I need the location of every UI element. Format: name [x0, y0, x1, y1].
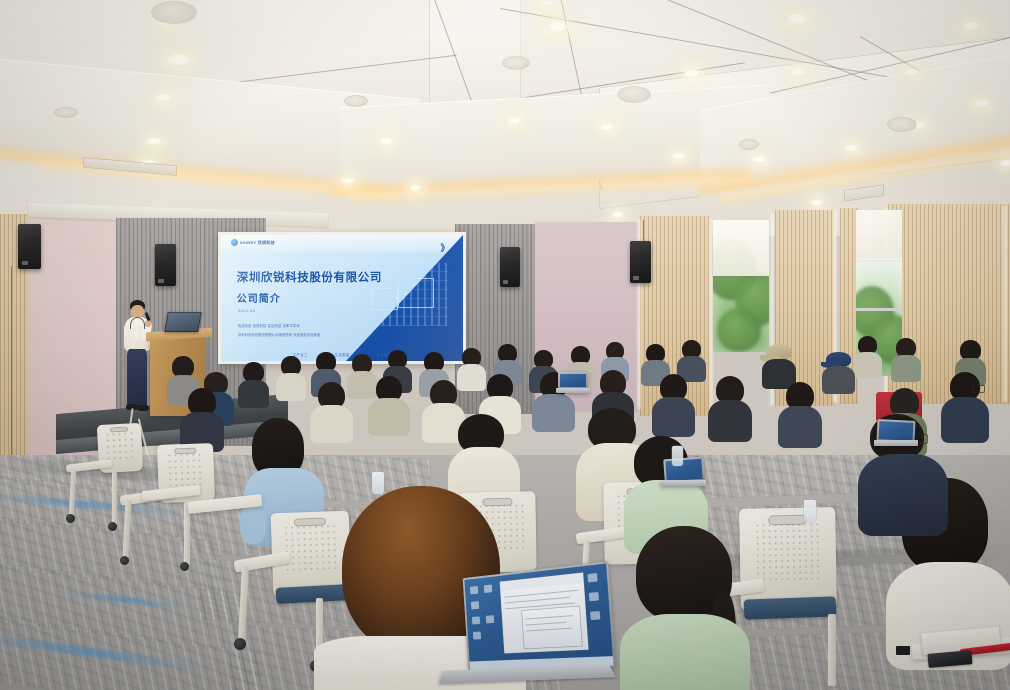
chair-caster — [120, 556, 129, 565]
chair-handle — [482, 497, 513, 506]
chair-handle — [174, 448, 197, 455]
dialog-row — [525, 615, 572, 620]
attendee-torso — [347, 371, 377, 399]
speaker-wire — [643, 220, 644, 244]
attendee-torso — [708, 400, 752, 442]
window-mullion — [856, 308, 902, 311]
attendee-arm — [240, 504, 266, 544]
desktop-icon — [472, 616, 480, 624]
ceiling-speaker — [503, 57, 529, 69]
attendee-torso — [652, 397, 695, 437]
vertical-led-strip — [1003, 206, 1007, 402]
recessed-downlight — [155, 94, 174, 102]
recessed-downlight — [342, 178, 355, 184]
laptop-keyboard-base — [660, 480, 706, 486]
laptop-keyboard-base — [874, 440, 918, 446]
presentation-slide: SHINRY 欣锐科技 》 深圳欣锐科技股份有限公司 公司简介 2024.08 … — [221, 235, 463, 361]
slide-footer-item: 生活质量 — [334, 352, 349, 357]
chair-perforation — [283, 523, 338, 575]
ceiling-speaker — [618, 87, 650, 102]
recessed-downlight — [508, 118, 522, 125]
dialog-row — [526, 628, 571, 632]
recessed-downlight — [166, 54, 192, 67]
recessed-downlight — [146, 138, 163, 146]
recessed-downlight — [974, 100, 990, 108]
recessed-downlight — [790, 68, 809, 77]
slide-company-logo: SHINRY 欣锐科技 — [231, 239, 275, 246]
inner-dialog — [522, 606, 582, 648]
dialog-row — [526, 622, 567, 626]
attendee-laptop — [556, 372, 590, 394]
wristwatch — [896, 646, 910, 655]
chair-backrest-empty — [739, 507, 837, 611]
chair-handle — [768, 515, 807, 526]
recessed-downlight — [845, 145, 859, 152]
chair-seat-cushion — [744, 596, 837, 619]
window-titlebar — [500, 572, 584, 590]
window-blind — [856, 210, 902, 260]
recessed-downlight — [753, 157, 766, 163]
attendee-laptop — [660, 458, 706, 488]
recessed-downlight — [380, 138, 394, 145]
attendee-torso — [238, 380, 269, 408]
chair-leg — [112, 472, 117, 526]
slide-art-detail — [398, 278, 434, 308]
desktop-icon — [471, 601, 479, 609]
recessed-downlight — [600, 124, 615, 131]
wall-speaker-far-left — [18, 224, 41, 269]
chair-handle — [294, 517, 325, 526]
recessed-downlight — [962, 22, 981, 31]
logo-wordmark: SHINRY 欣锐科技 — [240, 240, 275, 246]
recessed-downlight — [672, 153, 686, 160]
desktop-icon — [484, 584, 492, 592]
slide-art-detail — [371, 288, 397, 310]
laptop-screen — [464, 564, 613, 670]
desktop-icon — [473, 632, 481, 640]
recessed-downlight — [540, 0, 556, 7]
desktop-icon — [486, 615, 494, 623]
recessed-downlight — [1000, 160, 1010, 167]
desktop-icon — [587, 573, 597, 582]
attendee-torso — [310, 405, 353, 443]
slide-meta-line-2: 深圳欣锐科技股份有限公司版权所有 未经授权请勿转载 — [238, 332, 320, 337]
chair-perforation — [104, 430, 135, 460]
ceiling-speaker — [55, 108, 77, 117]
attendee-laptop — [874, 420, 918, 448]
ceiling-speaker — [740, 140, 758, 149]
ceiling-speaker — [152, 2, 196, 23]
chair-perforation — [166, 451, 205, 487]
attendee-torso — [457, 364, 486, 391]
ceiling-air-vent — [845, 185, 883, 200]
laptop-screen — [879, 421, 914, 441]
slide-meta-line-1: 电源系统 欣锐科技 高压科技 功率半导体 — [238, 323, 300, 328]
spreadsheet-window — [500, 572, 589, 653]
attendee-torso — [941, 397, 989, 443]
slide-corner-mark: 》 — [440, 241, 448, 254]
attendee-torso — [276, 373, 306, 401]
projection-screen: SHINRY 欣锐科技 》 深圳欣锐科技股份有限公司 公司简介 2024.08 … — [218, 232, 466, 364]
attendee-torso — [822, 366, 855, 394]
ceiling-speaker — [888, 118, 916, 131]
presenter-shoe — [137, 405, 149, 411]
recessed-downlight — [410, 185, 422, 191]
chair-caster — [66, 514, 75, 523]
attendee-torso — [778, 406, 822, 448]
attendee-torso — [853, 352, 882, 378]
slide-date: 2024.08 — [238, 308, 255, 313]
recessed-downlight — [684, 70, 701, 78]
wall-speaker-right — [630, 241, 651, 283]
window-blind — [713, 220, 769, 276]
podium-laptop — [164, 312, 202, 332]
laptop-keyboard-base — [439, 665, 616, 684]
water-bottle — [372, 472, 384, 494]
laptop-screen — [560, 374, 586, 387]
speaker-wire — [11, 266, 12, 480]
foliage — [717, 308, 761, 352]
attendee-torso — [858, 454, 948, 536]
laptop-lid — [463, 561, 616, 672]
water-bottle — [672, 446, 683, 466]
water-bottle — [804, 500, 816, 522]
attendee-torso — [532, 394, 575, 432]
attendee-torso — [891, 355, 921, 382]
wall-speaker-left — [155, 244, 176, 286]
window-content-row — [505, 597, 571, 604]
chair-caster — [234, 638, 246, 650]
eyeglasses-icon — [972, 385, 985, 393]
chair-caster — [108, 522, 117, 531]
logo-mark-icon — [231, 239, 238, 246]
slide-subtitle: 公司简介 — [237, 290, 281, 305]
attendee-torso — [620, 614, 750, 690]
ceiling-speaker — [345, 96, 367, 106]
attendee-torso — [368, 398, 410, 436]
slide-title: 深圳欣锐科技股份有限公司 — [237, 269, 382, 285]
chair-perforation — [755, 522, 821, 584]
chair-leg — [828, 614, 836, 686]
laptop-keyboard-base — [556, 388, 590, 393]
laptop-screen — [665, 459, 702, 481]
foreground-laptop — [434, 570, 614, 690]
laptop-lid — [558, 372, 588, 389]
presenter-trousers — [127, 349, 147, 407]
wall-speaker-center-right — [500, 247, 520, 287]
lanyard — [130, 317, 145, 329]
recessed-downlight — [904, 69, 921, 77]
conference-room-photo: SHINRY 欣锐科技 》 深圳欣锐科技股份有限公司 公司简介 2024.08 … — [0, 0, 1010, 690]
recessed-downlight — [548, 22, 568, 33]
recessed-downlight — [787, 14, 809, 25]
chair-caster — [180, 562, 189, 571]
presenter-badge — [134, 331, 139, 338]
desktop-icon — [589, 592, 599, 601]
desktop-icon — [470, 586, 478, 594]
desktop-icon — [590, 611, 600, 620]
